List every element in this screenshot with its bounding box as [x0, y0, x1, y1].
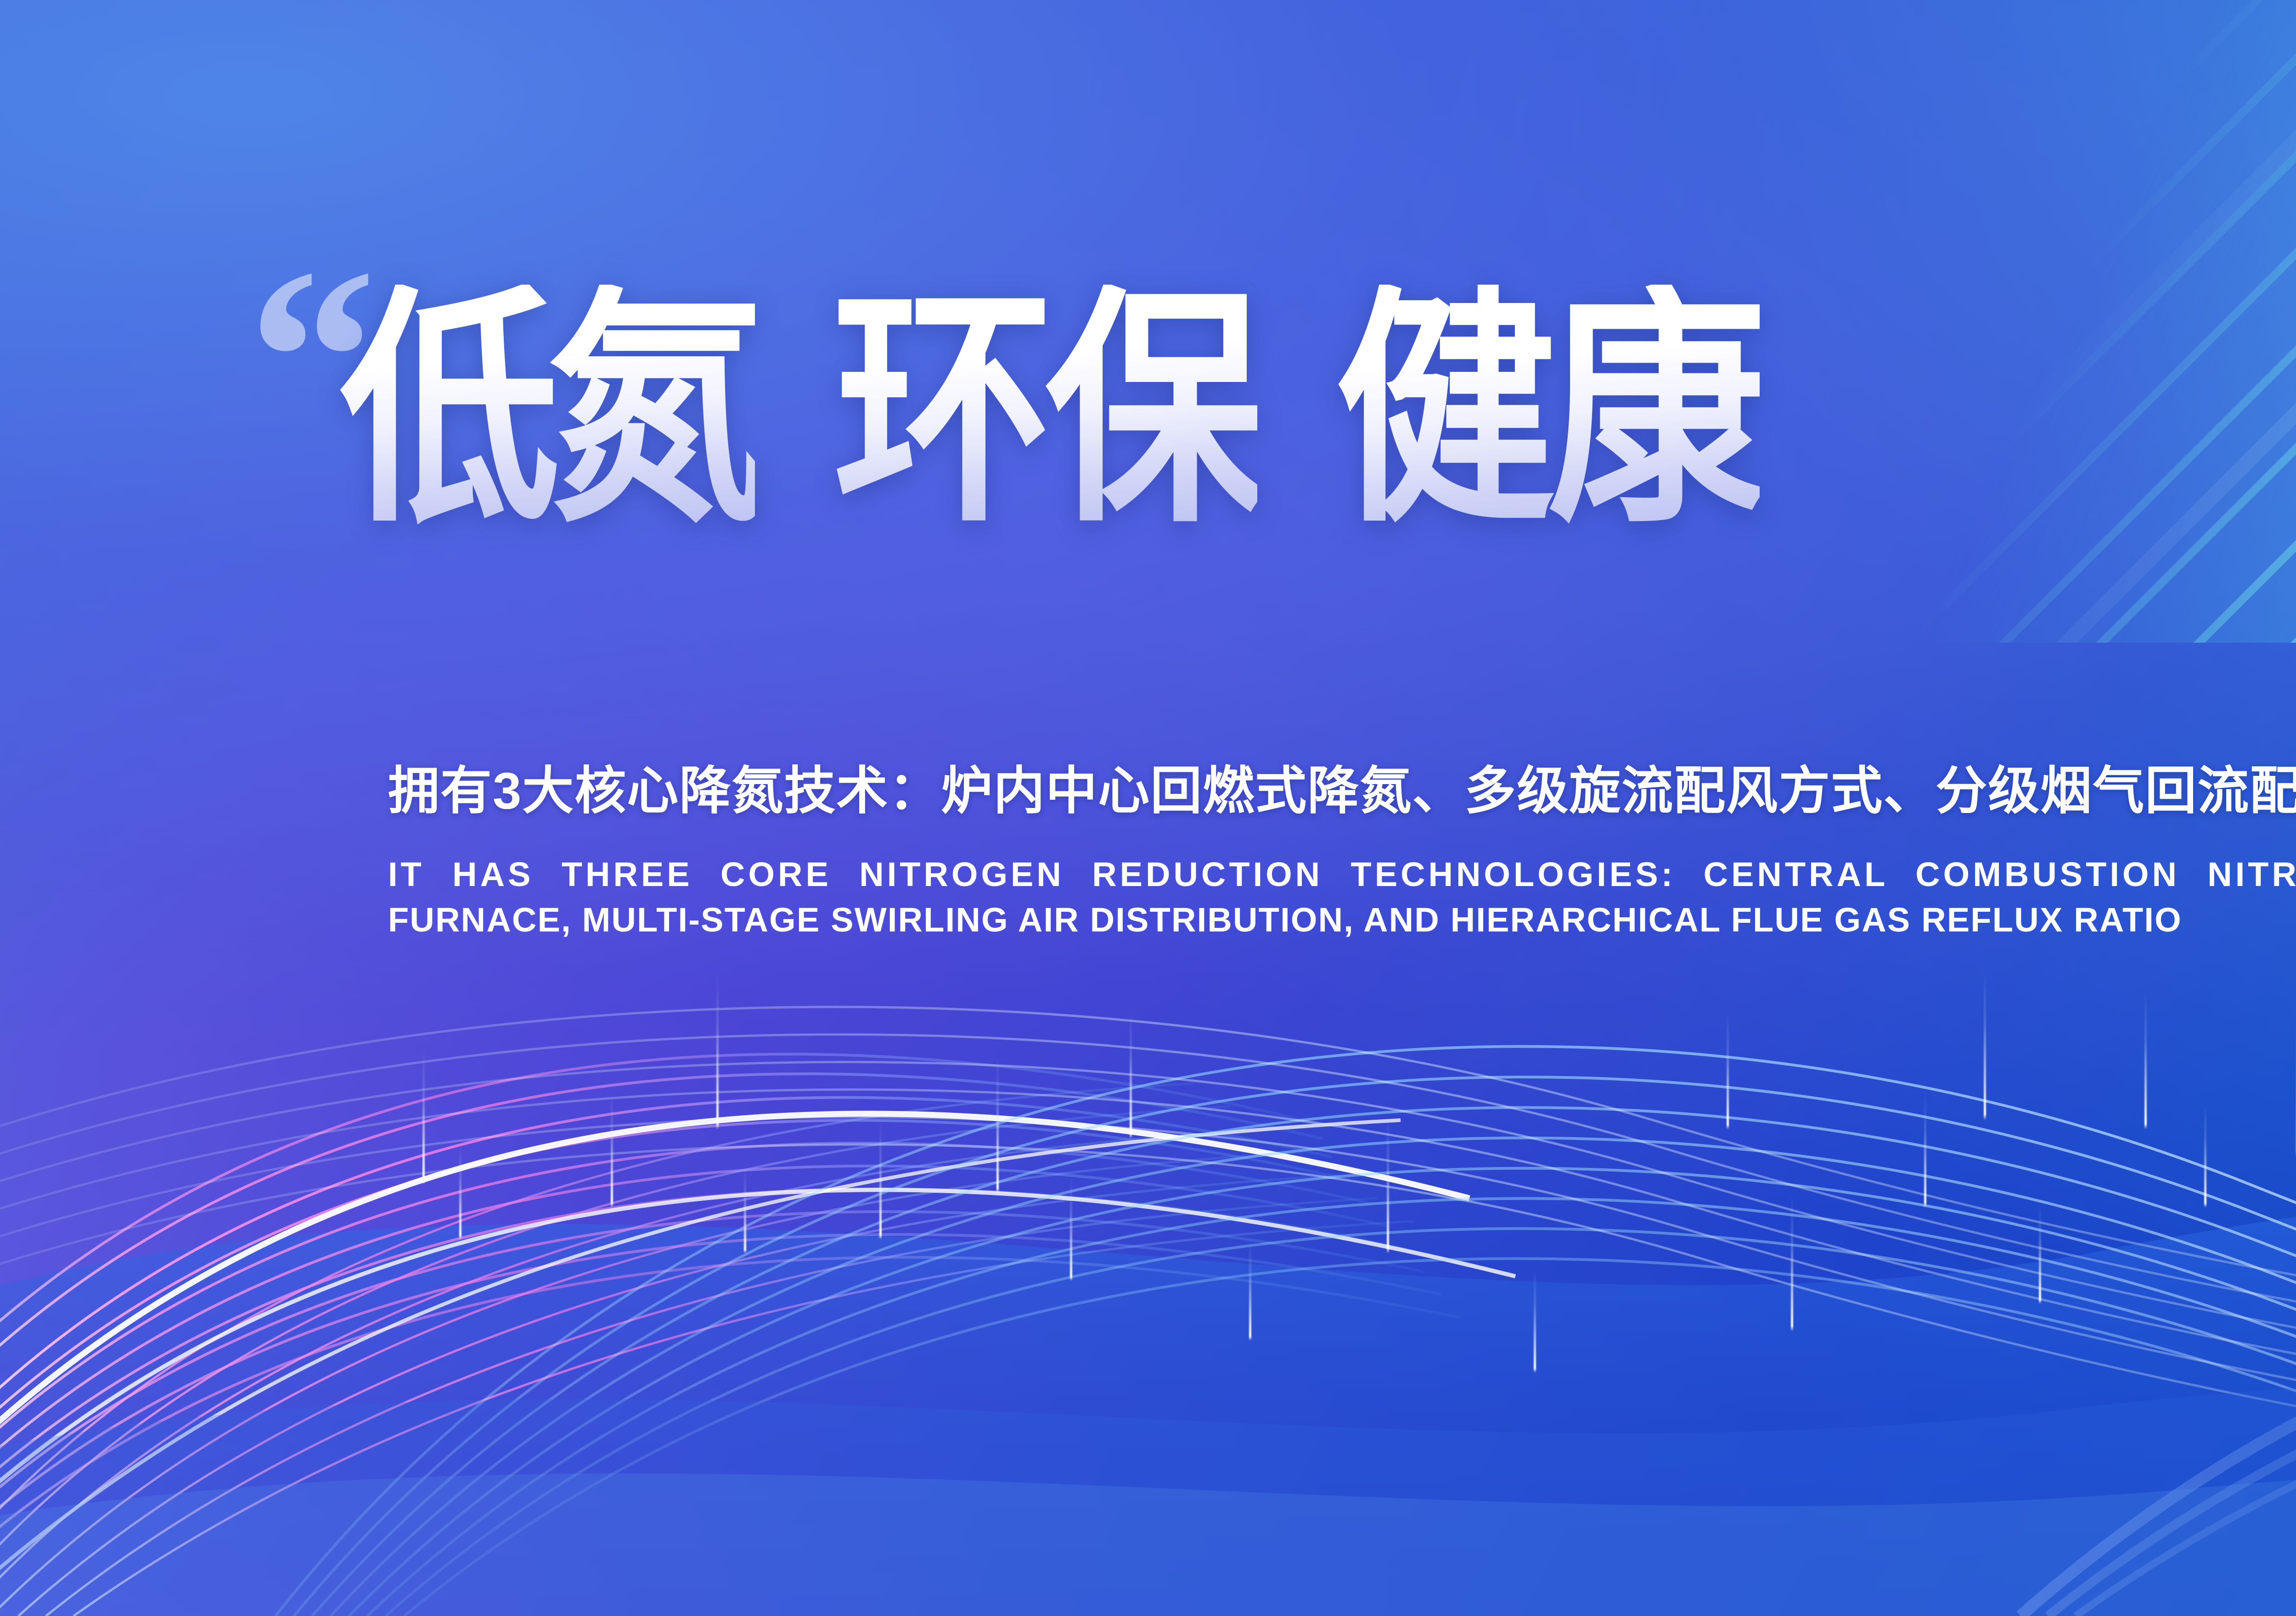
wave-artwork [0, 836, 2296, 1616]
headline-words: 低氮 环保 健康 [340, 285, 1760, 505]
headline-word-2: 环保 [833, 285, 1257, 536]
subtitle-en-line2: FURNACE, MULTI-STAGE SWIRLING AIR DISTRI… [388, 897, 2296, 943]
promo-banner: 科技-共赢 SCIENCE AND TECHNOLOGY AND WIN-WIN… [0, 0, 2296, 1616]
headline-word-1: 低氮 [340, 285, 755, 536]
wave-svg [0, 836, 2296, 1616]
subtitle-en-line1: IT HAS THREE CORE NITROGEN REDUCTION TEC… [388, 852, 2296, 897]
headline: “ 低氮 环保 健康 ” [248, 285, 2296, 725]
headline-word-3: 健康 [1335, 285, 1760, 536]
subtitle-en: IT HAS THREE CORE NITROGEN REDUCTION TEC… [388, 852, 2296, 943]
subtitle-cn: 拥有3大核心降氮技术：炉内中心回燃式降氮、多级旋流配风方式、分级烟气回流配比。 [388, 749, 2296, 824]
